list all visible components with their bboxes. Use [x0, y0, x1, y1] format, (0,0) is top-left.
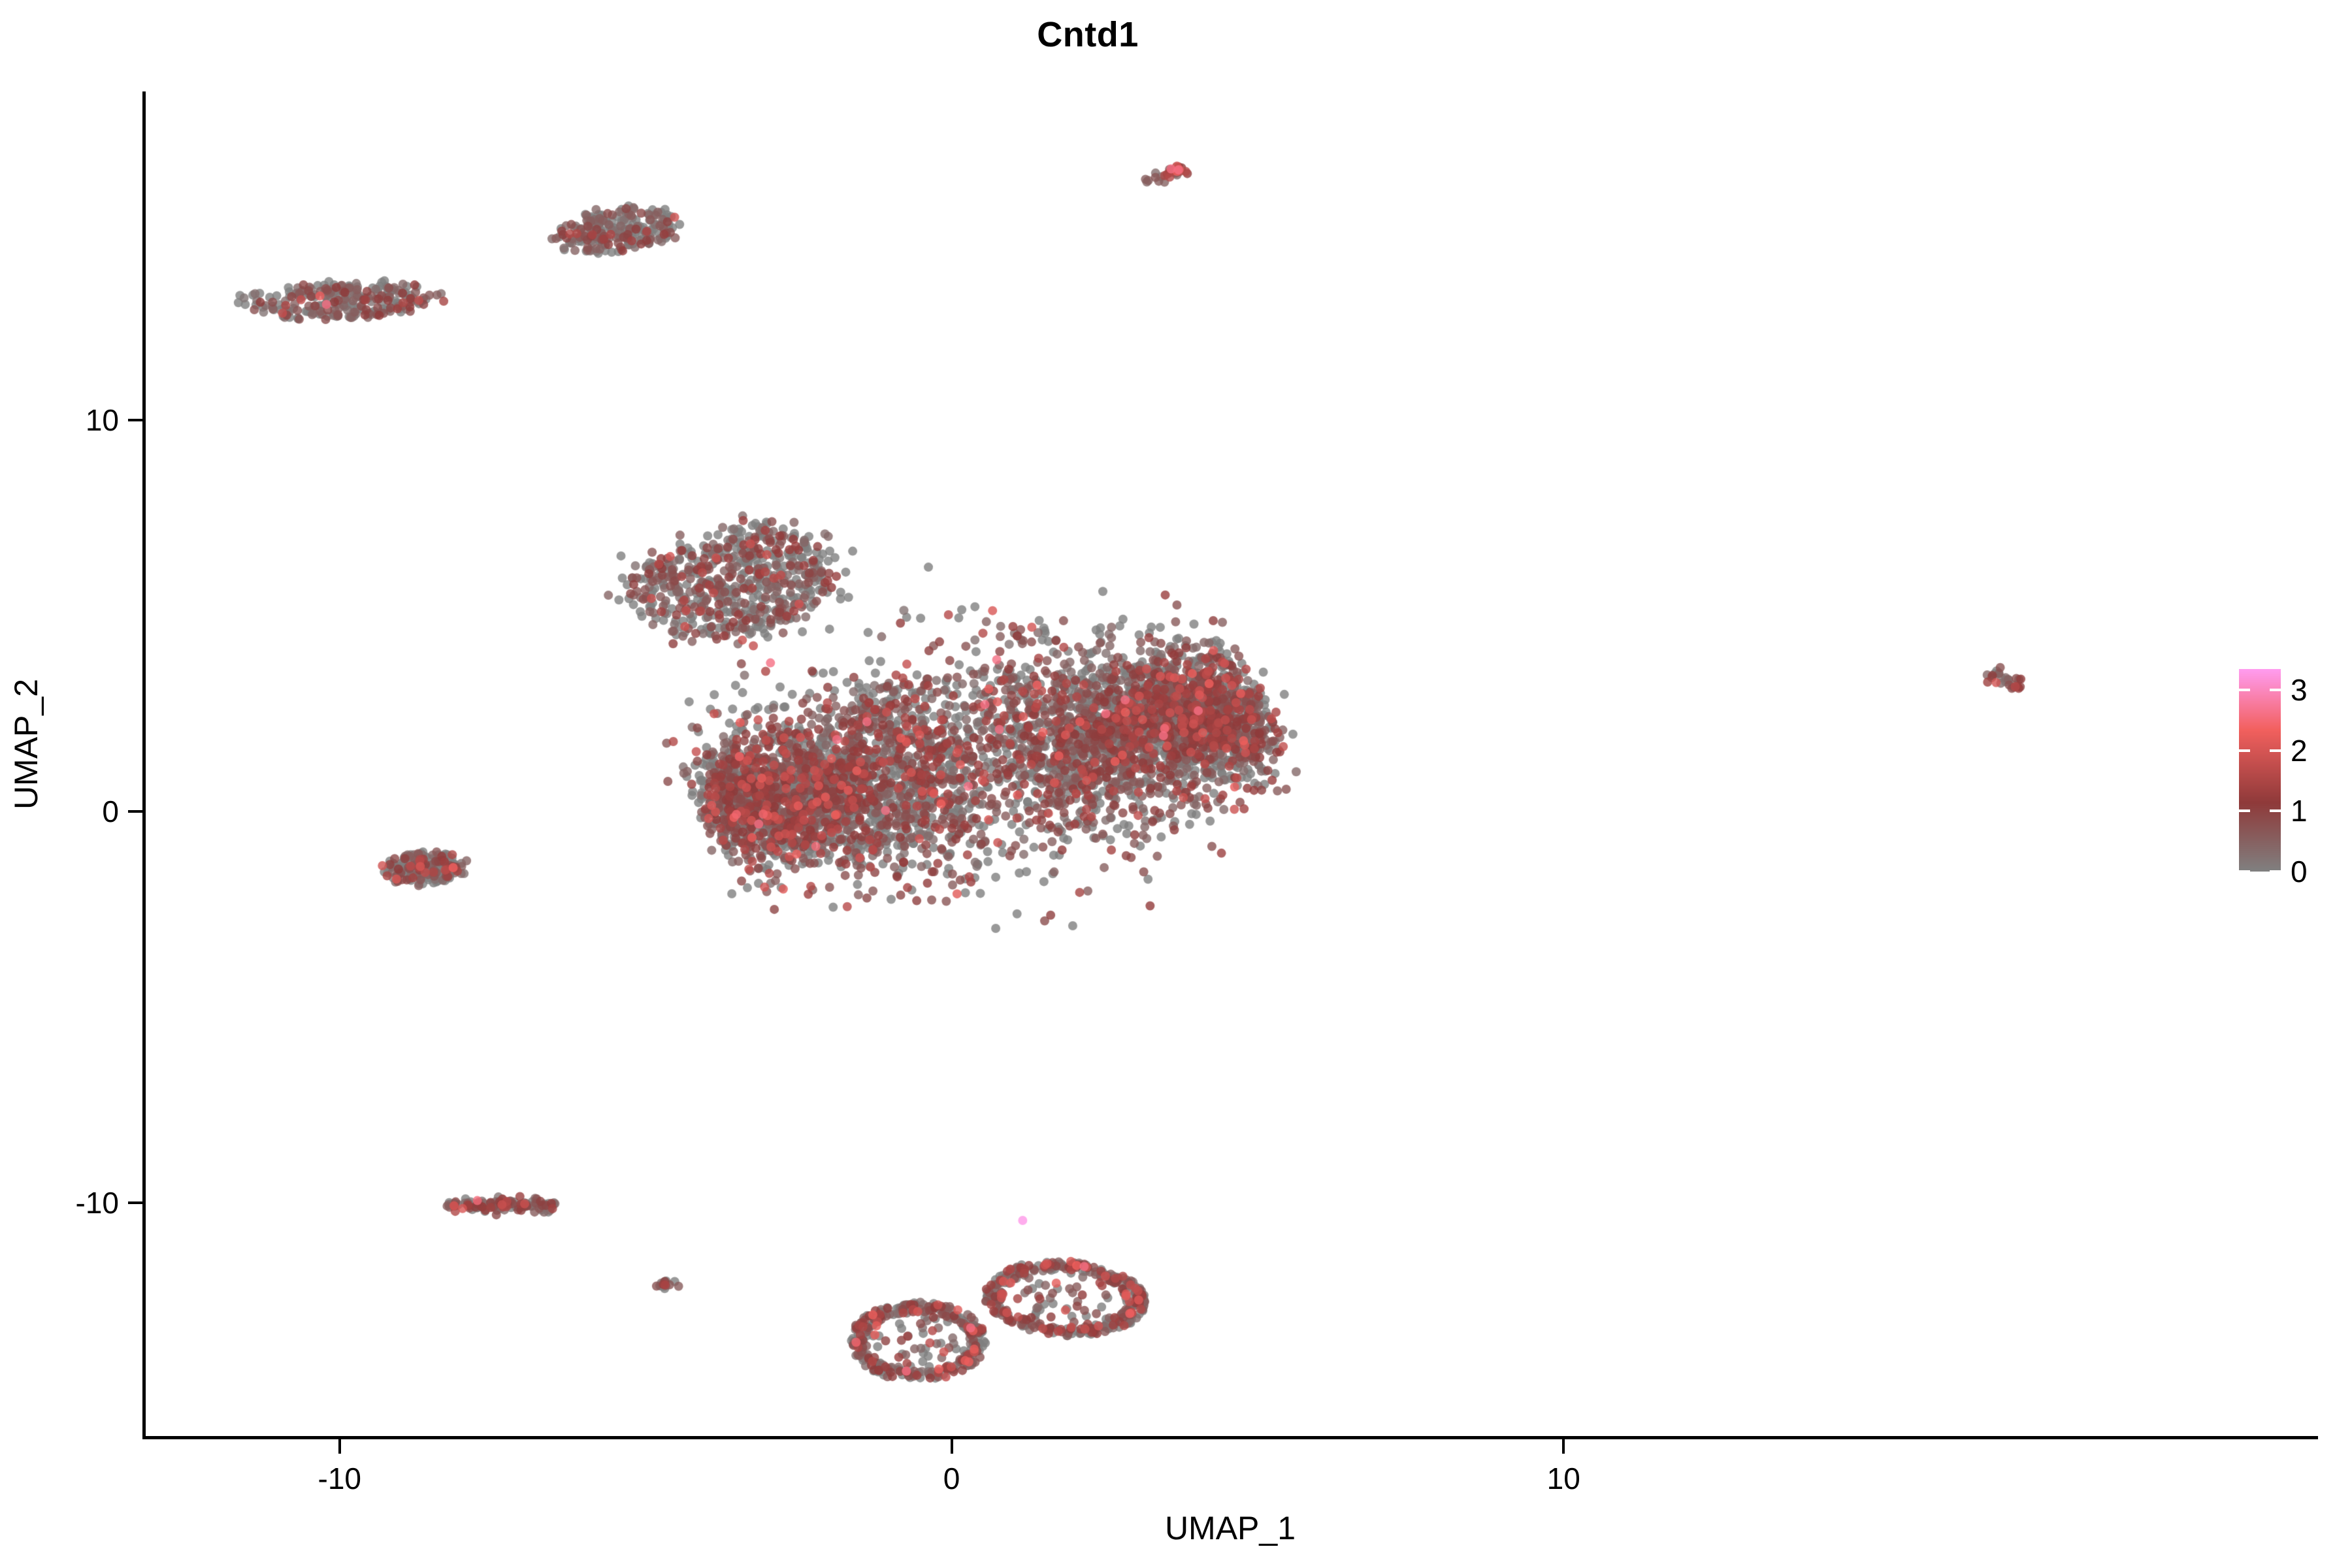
colorbar-tick-mark — [2270, 749, 2281, 752]
y-axis-label: UMAP_2 — [7, 417, 45, 1071]
colorbar-tick-label: 0 — [2291, 854, 2308, 889]
x-axis-line — [142, 1436, 2318, 1439]
x-axis-label: UMAP_1 — [142, 1509, 2318, 1547]
x-tick-label: 10 — [1547, 1461, 1580, 1496]
colorbar-tick-mark — [2270, 870, 2281, 873]
colorbar-gradient — [2239, 669, 2281, 872]
colorbar-tick-mark — [2270, 689, 2281, 691]
x-tick-mark — [951, 1439, 953, 1454]
umap-feature-plot: Cntd1 -10010 -10010 UMAP_1 UMAP_2 0123 — [0, 0, 2352, 1568]
y-tick-label: 10 — [86, 402, 119, 438]
x-tick-label: 0 — [943, 1461, 960, 1496]
page-title: Cntd1 — [0, 14, 2176, 55]
y-axis-line — [142, 91, 146, 1439]
colorbar-tick-mark — [2239, 689, 2250, 691]
x-tick-mark — [1562, 1439, 1565, 1454]
y-tick-mark — [128, 1201, 142, 1204]
colorbar-tick-mark — [2239, 870, 2250, 873]
colorbar-tick-label: 1 — [2291, 793, 2308, 828]
scatter-plot-canvas — [144, 91, 2176, 1437]
y-tick-mark — [128, 419, 142, 421]
x-tick-label: -10 — [318, 1461, 361, 1496]
colorbar-tick-mark — [2239, 749, 2250, 752]
y-tick-label: 0 — [102, 794, 119, 829]
x-tick-mark — [338, 1439, 341, 1454]
colorbar-tick-mark — [2270, 809, 2281, 812]
y-tick-mark — [128, 810, 142, 813]
colorbar-legend: 0123 — [2234, 660, 2339, 889]
colorbar-tick-mark — [2239, 809, 2250, 812]
colorbar-tick-label: 3 — [2291, 672, 2308, 708]
y-tick-label: -10 — [76, 1185, 119, 1220]
plot-panel — [144, 91, 2176, 1437]
colorbar-tick-label: 2 — [2291, 733, 2308, 768]
